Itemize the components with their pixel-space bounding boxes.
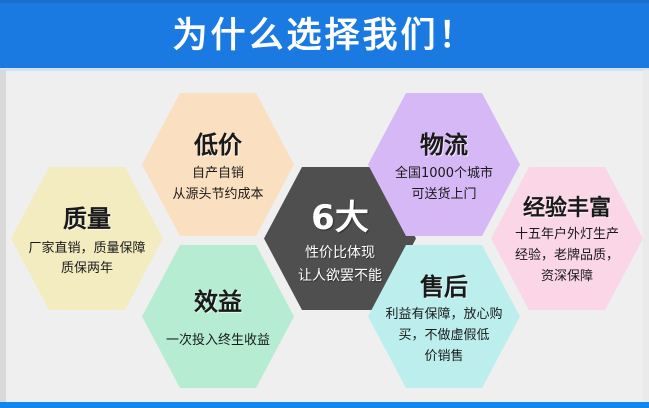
hex-title-logistics: 物流	[420, 125, 468, 160]
hex-title-after-sale: 售后	[420, 267, 468, 302]
hex-body-core: 性价比体现 让人欲罢不能	[298, 242, 382, 288]
hex-line: 让人欲罢不能	[298, 265, 382, 288]
hex-line: 全国1000个城市	[395, 163, 493, 184]
hex-line: 价销售	[385, 346, 502, 367]
hex-line: 质保两年	[28, 259, 145, 279]
hex-line: 利益有保障，放心购	[385, 304, 502, 325]
hex-title-experience: 经验丰富	[523, 190, 611, 222]
hex-line: 从源头节约成本	[172, 184, 263, 205]
hex-line: 十五年户外灯生产	[515, 224, 619, 245]
hex-line: 厂家直销，质量保障	[28, 239, 145, 259]
hex-cell-low-price[interactable]: 低价 自产自销 从源头节约成本	[142, 93, 294, 236]
hex-body-after-sale: 利益有保障，放心购 买，不做虚假低 价销售	[385, 304, 502, 367]
hex-body-experience: 十五年户外灯生产 经验，老牌品质， 资深保障	[515, 224, 619, 287]
header-top-edge	[0, 0, 649, 3]
hex-line: 一次投入终生收益	[166, 331, 270, 351]
page-title: 为什么选择我们！	[0, 6, 649, 66]
hex-body-logistics: 全国1000个城市 可送货上门	[395, 163, 493, 205]
hex-title-low-price: 低价	[194, 125, 242, 160]
hex-title-core: 6大	[311, 190, 369, 239]
hex-line: 经验，老牌品质，	[515, 245, 619, 266]
hex-line: 资深保障	[515, 266, 619, 287]
promo-poster: 为什么选择我们！ 质量 厂家直销，质量保障 质保两年 低价 自产自销 从源头节约…	[0, 0, 649, 408]
left-edge-shadow	[0, 70, 6, 402]
hex-title-benefit: 效益	[194, 282, 242, 317]
hex-line: 自产自销	[172, 163, 263, 184]
hex-cell-experience[interactable]: 经验丰富 十五年户外灯生产 经验，老牌品质， 资深保障	[491, 167, 643, 310]
hex-line: 可送货上门	[395, 184, 493, 205]
hex-line: 性价比体现	[298, 242, 382, 265]
right-edge-shadow	[643, 70, 649, 402]
hex-line: 买，不做虚假低	[385, 325, 502, 346]
hex-cell-benefit[interactable]: 效益 一次投入终生收益	[142, 245, 294, 388]
hex-body-benefit: 一次投入终生收益	[166, 331, 270, 351]
header-banner: 为什么选择我们！	[0, 0, 649, 70]
hex-body-quality: 厂家直销，质量保障 质保两年	[28, 239, 145, 279]
header-divider	[0, 68, 649, 71]
hex-cell-quality[interactable]: 质量 厂家直销，质量保障 质保两年	[11, 167, 163, 310]
hex-body-low-price: 自产自销 从源头节约成本	[172, 163, 263, 205]
footer-strip	[0, 402, 649, 408]
hex-title-quality: 质量	[63, 199, 111, 234]
